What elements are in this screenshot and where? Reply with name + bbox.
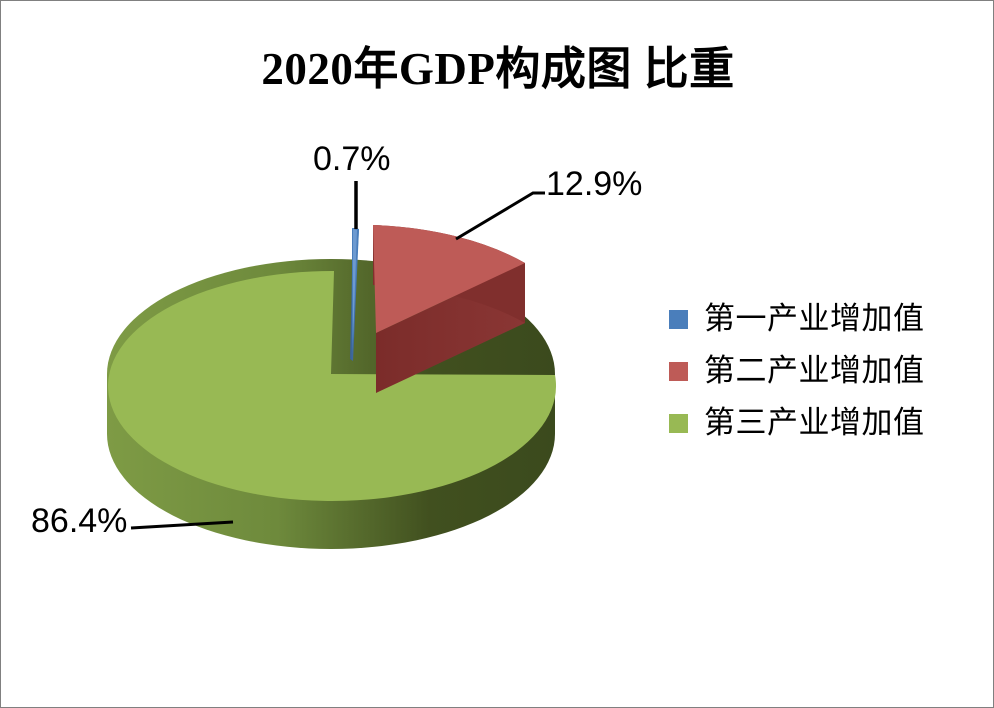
legend-swatch-tertiary bbox=[669, 414, 688, 433]
legend-label-primary: 第一产业增加值 bbox=[704, 301, 925, 337]
legend-label-tertiary: 第三产业增加值 bbox=[704, 405, 925, 441]
legend-swatch-primary bbox=[669, 310, 688, 329]
chart-frame: 2020年GDP构成图 比重 bbox=[0, 0, 994, 708]
legend-label-secondary: 第二产业增加值 bbox=[704, 353, 925, 389]
legend-item-tertiary[interactable]: 第三产业增加值 bbox=[669, 397, 969, 449]
legend-swatch-secondary bbox=[669, 362, 688, 381]
chart-legend: 第一产业增加值 第二产业增加值 第三产业增加值 bbox=[669, 293, 969, 449]
leader-line-secondary bbox=[456, 193, 545, 239]
legend-item-primary[interactable]: 第一产业增加值 bbox=[669, 293, 969, 345]
data-label-primary: 0.7% bbox=[313, 139, 391, 179]
legend-item-secondary[interactable]: 第二产业增加值 bbox=[669, 345, 969, 397]
data-label-tertiary: 86.4% bbox=[31, 501, 127, 541]
data-label-secondary: 12.9% bbox=[546, 164, 642, 204]
